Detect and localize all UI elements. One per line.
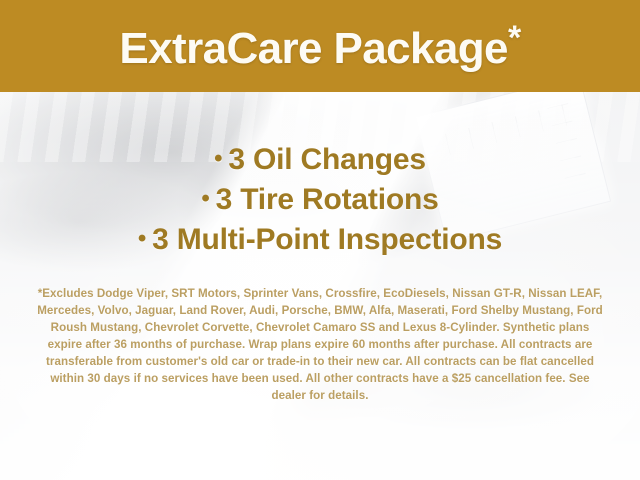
page-title-asterisk: * [508, 19, 521, 57]
feature-list: •3 Oil Changes •3 Tire Rotations •3 Mult… [0, 140, 640, 261]
bullet-icon: • [201, 185, 209, 212]
feature-item-label: 3 Tire Rotations [216, 183, 439, 216]
feature-item-multi-point-inspections: •3 Multi-Point Inspections [0, 220, 640, 260]
feature-item-oil-changes: •3 Oil Changes [0, 140, 640, 180]
bullet-icon: • [138, 225, 146, 252]
feature-item-label: 3 Oil Changes [228, 143, 425, 176]
page-title: ExtraCare Package* [119, 21, 520, 71]
feature-item-label: 3 Multi-Point Inspections [152, 223, 502, 256]
disclaimer-fine-print: *Excludes Dodge Viper, SRT Motors, Sprin… [32, 286, 608, 404]
feature-item-tire-rotations: •3 Tire Rotations [0, 180, 640, 220]
extracare-package-ad: ExtraCare Package* •3 Oil Changes •3 Tir… [0, 0, 640, 480]
page-title-text: ExtraCare Package [119, 24, 508, 73]
bullet-icon: • [214, 145, 222, 172]
disclaimer-text: *Excludes Dodge Viper, SRT Motors, Sprin… [32, 286, 608, 404]
header-banner: ExtraCare Package* [0, 0, 640, 92]
